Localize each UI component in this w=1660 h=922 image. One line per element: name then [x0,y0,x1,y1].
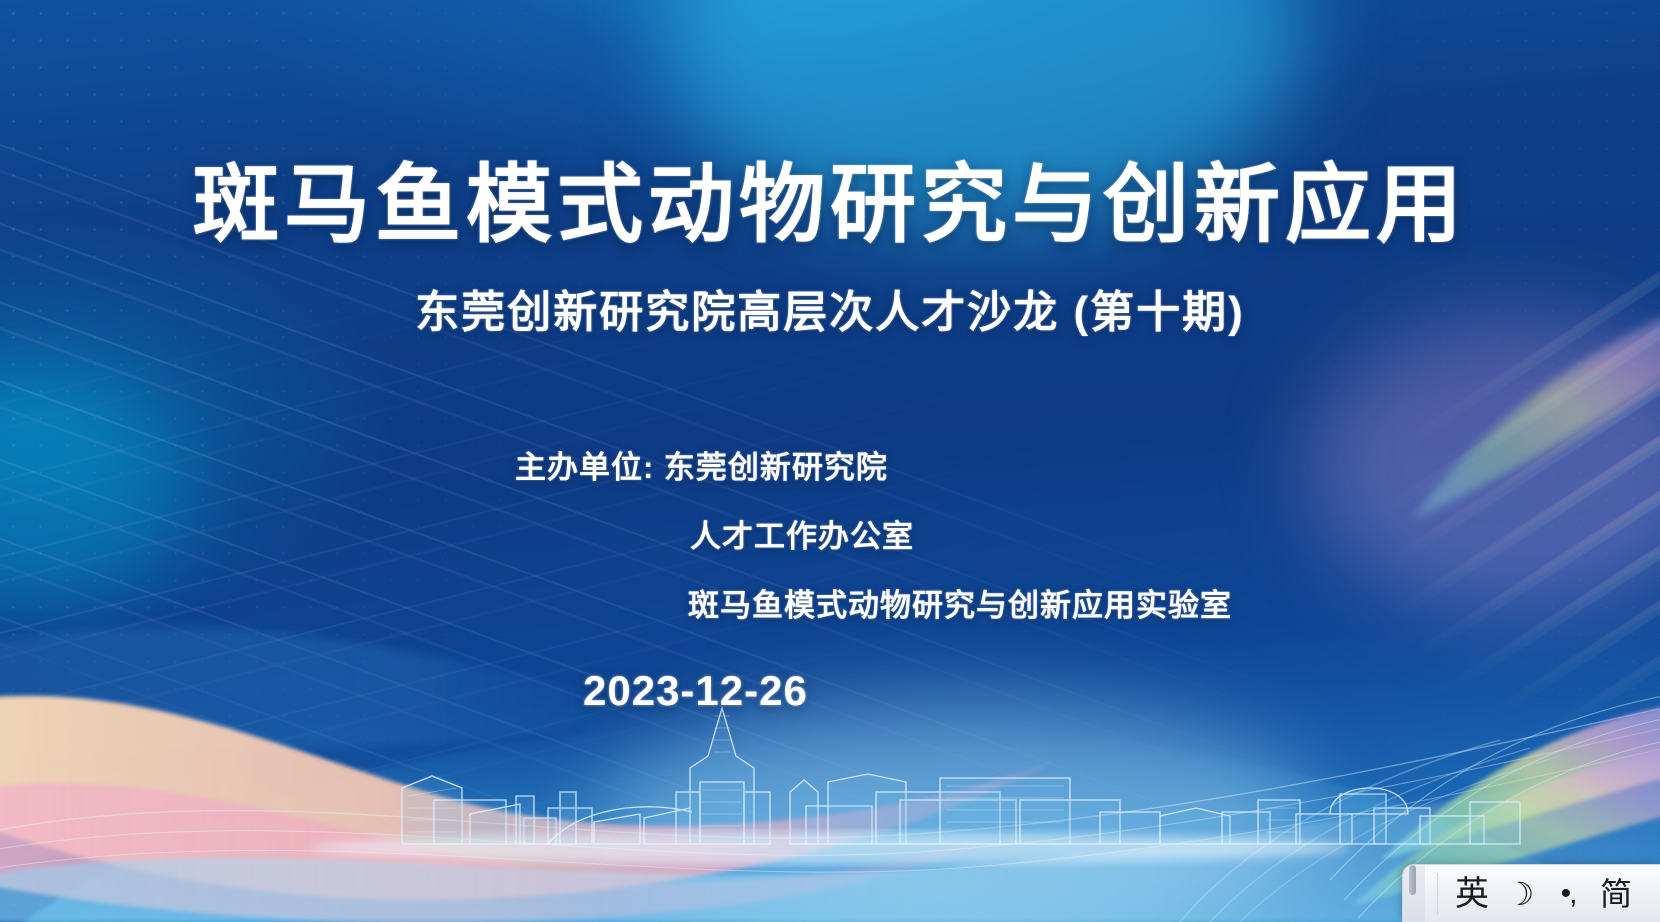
crescent-moon-icon[interactable]: ☽ [1496,870,1544,918]
drag-handle-icon[interactable] [1409,865,1416,895]
organizer-block: 主办单位: 东莞创新研究院 人才工作办公室 斑马鱼模式动物研究与创新应用实验室 [0,452,1660,621]
city-skyline-graphic [0,696,1660,886]
ime-punctuation-toggle[interactable]: •, [1544,870,1592,918]
slide-date: 2023-12-26 [583,667,808,715]
organizer-line-1: 主办单位: 东莞创新研究院 [515,452,1660,483]
presentation-slide: 斑马鱼模式动物研究与创新应用 东莞创新研究院高层次人才沙龙 (第十期) 主办单位… [0,0,1660,922]
organizer-line-2: 人才工作办公室 [690,521,1660,552]
organizer-line-3: 斑马鱼模式动物研究与创新应用实验室 [688,590,1660,621]
ime-drag-area[interactable] [1403,865,1425,922]
slide-heading-block: 斑马鱼模式动物研究与创新应用 东莞创新研究院高层次人才沙龙 (第十期) [0,160,1660,340]
ime-simplified-traditional-toggle[interactable]: 简 [1592,870,1640,918]
slide-subtitle: 东莞创新研究院高层次人才沙龙 (第十期) [0,276,1660,340]
toolbar-divider [1437,873,1438,915]
ime-floating-toolbar[interactable]: 英 ☽ •, 简 [1402,864,1660,922]
ime-language-mode-button[interactable]: 英 [1448,870,1496,918]
page-title: 斑马鱼模式动物研究与创新应用 [0,160,1660,250]
